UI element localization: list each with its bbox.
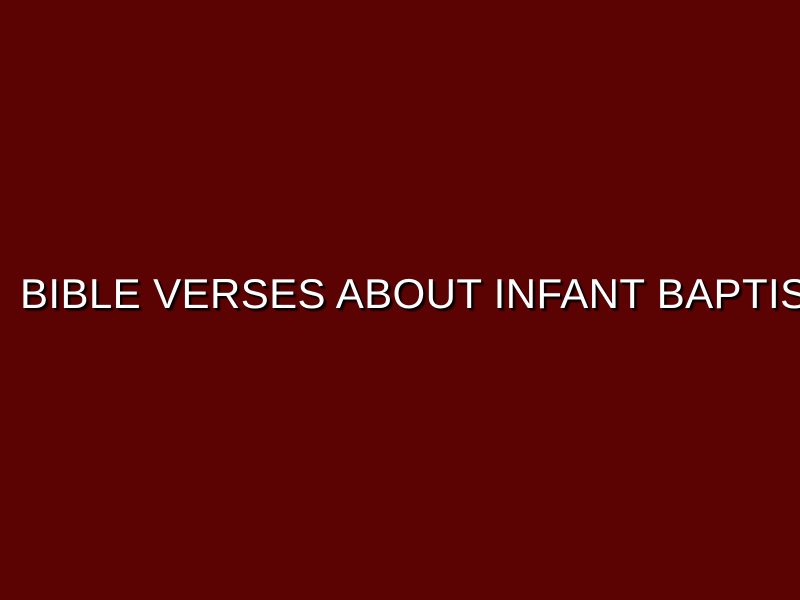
headline-container: BIBLE VERSES ABOUT INFANT BAPTISM [0, 0, 800, 600]
title-banner: BIBLE VERSES ABOUT INFANT BAPTISM [0, 0, 800, 600]
page-title: BIBLE VERSES ABOUT INFANT BAPTISM [0, 272, 800, 316]
